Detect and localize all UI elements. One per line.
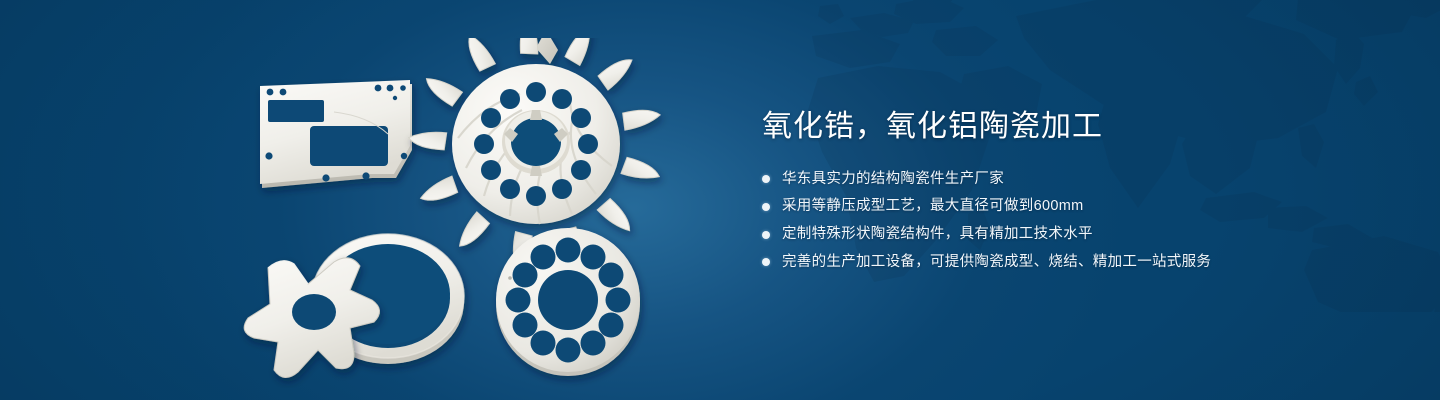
ceramic-impeller	[408, 38, 660, 270]
product-photo-cluster	[238, 38, 688, 388]
feature-text: 采用等静压成型工艺，最大直径可做到600mm	[782, 197, 1083, 216]
bullet-dot-icon	[762, 258, 770, 266]
banner-copy: 氧化锆，氧化铝陶瓷加工 华东具实力的结构陶瓷件生产厂家 采用等静压成型工艺，最大…	[762, 108, 1322, 272]
list-item: 完善的生产加工设备，可提供陶瓷成型、烧结、精加工一站式服务	[762, 253, 1322, 272]
bullet-dot-icon	[762, 231, 770, 239]
feature-text: 完善的生产加工设备，可提供陶瓷成型、烧结、精加工一站式服务	[782, 253, 1211, 272]
page-title: 氧化锆，氧化铝陶瓷加工	[762, 108, 1322, 146]
ceramic-hole-disc	[496, 228, 640, 376]
feature-text: 定制特殊形状陶瓷结构件，具有精加工技术水平	[782, 225, 1093, 244]
list-item: 华东具实力的结构陶瓷件生产厂家	[762, 170, 1322, 189]
bullet-dot-icon	[762, 175, 770, 183]
bullet-dot-icon	[762, 203, 770, 211]
feature-list: 华东具实力的结构陶瓷件生产厂家 采用等静压成型工艺，最大直径可做到600mm 定…	[762, 170, 1322, 272]
list-item: 定制特殊形状陶瓷结构件，具有精加工技术水平	[762, 225, 1322, 244]
list-item: 采用等静压成型工艺，最大直径可做到600mm	[762, 197, 1322, 216]
feature-text: 华东具实力的结构陶瓷件生产厂家	[782, 170, 1004, 189]
ceramic-plate	[260, 80, 412, 188]
hero-banner: 氧化锆，氧化铝陶瓷加工 华东具实力的结构陶瓷件生产厂家 采用等静压成型工艺，最大…	[0, 0, 1440, 400]
